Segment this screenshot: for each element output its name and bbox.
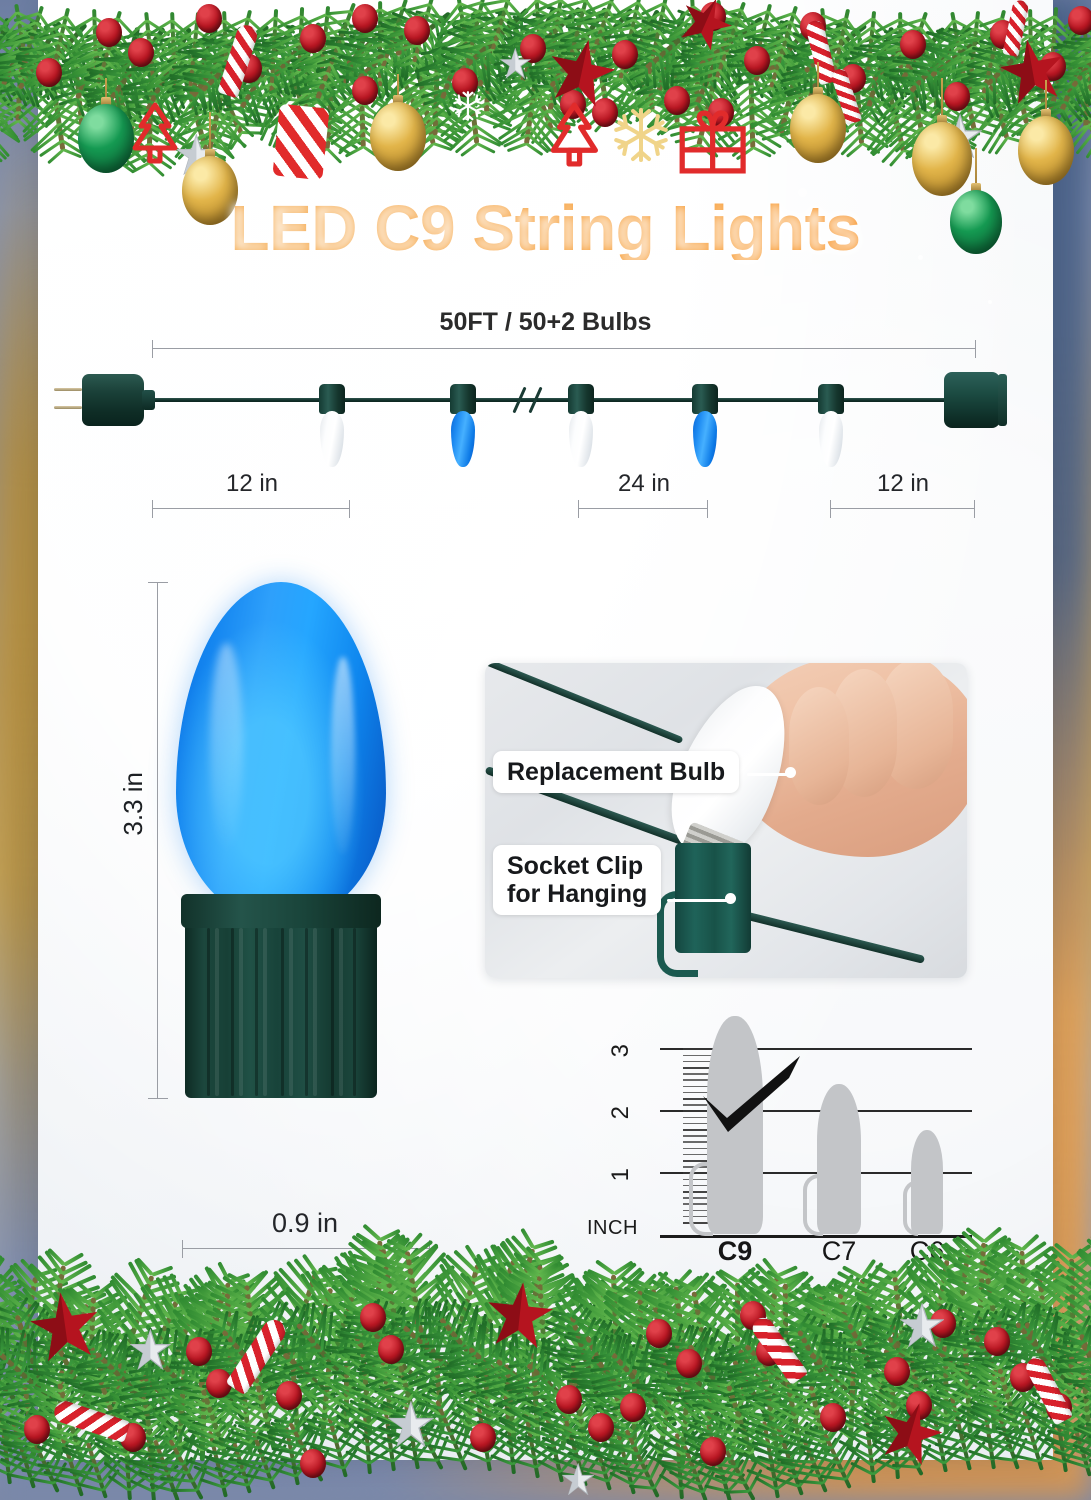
bulb-height-label: 3.3 in [118, 772, 149, 836]
spacing-line-tail [830, 508, 975, 509]
chart-label-c6: C6 [885, 1236, 969, 1267]
overall-dim-tick-right [975, 340, 976, 358]
finger [789, 687, 849, 805]
infographic-canvas: LED C9 String Lights 50FT / 50+2 Bulbs [0, 0, 1091, 1500]
ruler-label-3: 3 [607, 1044, 635, 1057]
replacement-bulb-photo: Replacement Bulb Socket Clip for Hanging [485, 663, 967, 978]
bulb-size-comparison-chart: 3 2 1 INCH C9 C7 C6 [585, 1022, 975, 1280]
spacing-label-between: 24 in [578, 470, 710, 498]
callout-replacement-bulb: Replacement Bulb [493, 751, 739, 793]
callout-socket-clip: Socket Clip for Hanging [493, 845, 661, 915]
ruler-label-2: 2 [607, 1106, 635, 1119]
chart-label-c7: C7 [797, 1236, 881, 1267]
spacing-line-between [578, 508, 708, 509]
photo-cord [739, 910, 925, 964]
check-icon [701, 1054, 805, 1132]
male-plug-icon [82, 374, 144, 426]
height-dim-tick-top [148, 582, 168, 583]
overall-dim-tick-left [152, 340, 153, 358]
chart-bulb-c7 [817, 1084, 861, 1234]
string-length-label: 50FT / 50+2 Bulbs [0, 308, 1091, 337]
spacing-label-lead: 12 in [152, 470, 352, 498]
ruler-unit-label: INCH [587, 1217, 638, 1240]
bulb-socket-base [185, 910, 377, 1098]
photo-cord [485, 663, 683, 744]
page-title: LED C9 String Lights [0, 196, 1091, 260]
string-light-diagram: 50FT / 50+2 Bulbs 12 in [0, 300, 1091, 530]
chart-label-c9: C9 [691, 1236, 779, 1267]
chart-bulb-c7-wire [803, 1174, 823, 1236]
spacing-line-lead [152, 508, 350, 509]
chart-bulb-c6-wire [903, 1180, 918, 1236]
photo-socket [675, 843, 751, 953]
height-dim-tick-bottom [148, 1098, 168, 1099]
female-connector-icon [944, 372, 1000, 428]
ruler-label-1: 1 [607, 1168, 635, 1181]
overall-dim-line [152, 348, 976, 349]
bulb-glass [176, 582, 386, 922]
bulb-dimension-figure: 3.3 in 0.9 in [0, 560, 520, 1280]
bulb-width-label: 0.9 in [180, 1208, 430, 1239]
height-dim-line [157, 582, 158, 1099]
spacing-label-tail: 12 in [830, 470, 976, 498]
width-dim-line [182, 1248, 430, 1249]
chart-bulb-c9-wire [689, 1162, 713, 1236]
